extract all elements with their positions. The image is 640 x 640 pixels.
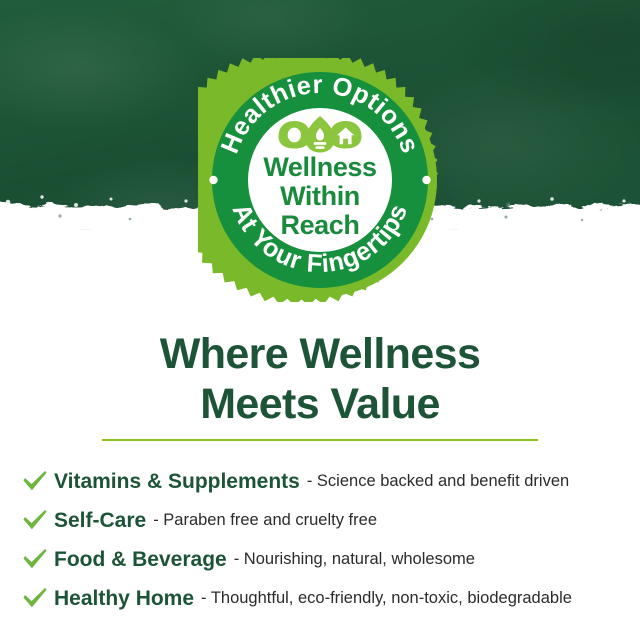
list-item: Vitamins & Supplements - Science backed …: [0, 462, 640, 501]
list-item-desc: - Nourishing, natural, wholesome: [234, 550, 475, 570]
list-item-desc: - Thoughtful, eco-friendly, non-toxic, b…: [201, 589, 572, 609]
benefits-list: Vitamins & Supplements - Science backed …: [0, 462, 640, 618]
page-title: Where Wellness Meets Value: [0, 330, 640, 430]
list-item: Healthy Home - Thoughtful, eco-friendly,…: [0, 579, 640, 618]
list-item-title: Food & Beverage: [54, 548, 227, 572]
check-icon: [20, 467, 50, 497]
badge-inner-line-2: Within: [280, 181, 360, 211]
check-icon: [20, 506, 50, 536]
list-item-desc: - Science backed and benefit driven: [307, 472, 569, 492]
leaf-pill-icon: [279, 121, 311, 149]
check-icon: [20, 545, 50, 575]
headline-line-2: Meets Value: [0, 380, 640, 430]
badge-icon-group: [279, 116, 362, 153]
divider: [102, 439, 538, 441]
wellness-badge: Healthier Options At Your Fingertips: [198, 58, 442, 302]
list-item-desc: - Paraben free and cruelty free: [153, 511, 377, 531]
badge-inner-line-3: Reach: [280, 210, 359, 240]
headline-line-1: Where Wellness: [160, 330, 481, 378]
check-icon: [20, 584, 50, 614]
badge-separator-dot-left: [209, 176, 217, 184]
badge-separator-dot-right: [422, 176, 430, 184]
list-item-title: Healthy Home: [54, 587, 194, 611]
list-item-title: Self-Care: [54, 509, 146, 533]
leaf-home-icon: [330, 121, 362, 149]
badge-inner-line-1: Wellness: [263, 152, 376, 182]
list-item-title: Vitamins & Supplements: [54, 470, 300, 494]
list-item: Self-Care - Paraben free and cruelty fre…: [0, 501, 640, 540]
list-item: Food & Beverage - Nourishing, natural, w…: [0, 540, 640, 579]
